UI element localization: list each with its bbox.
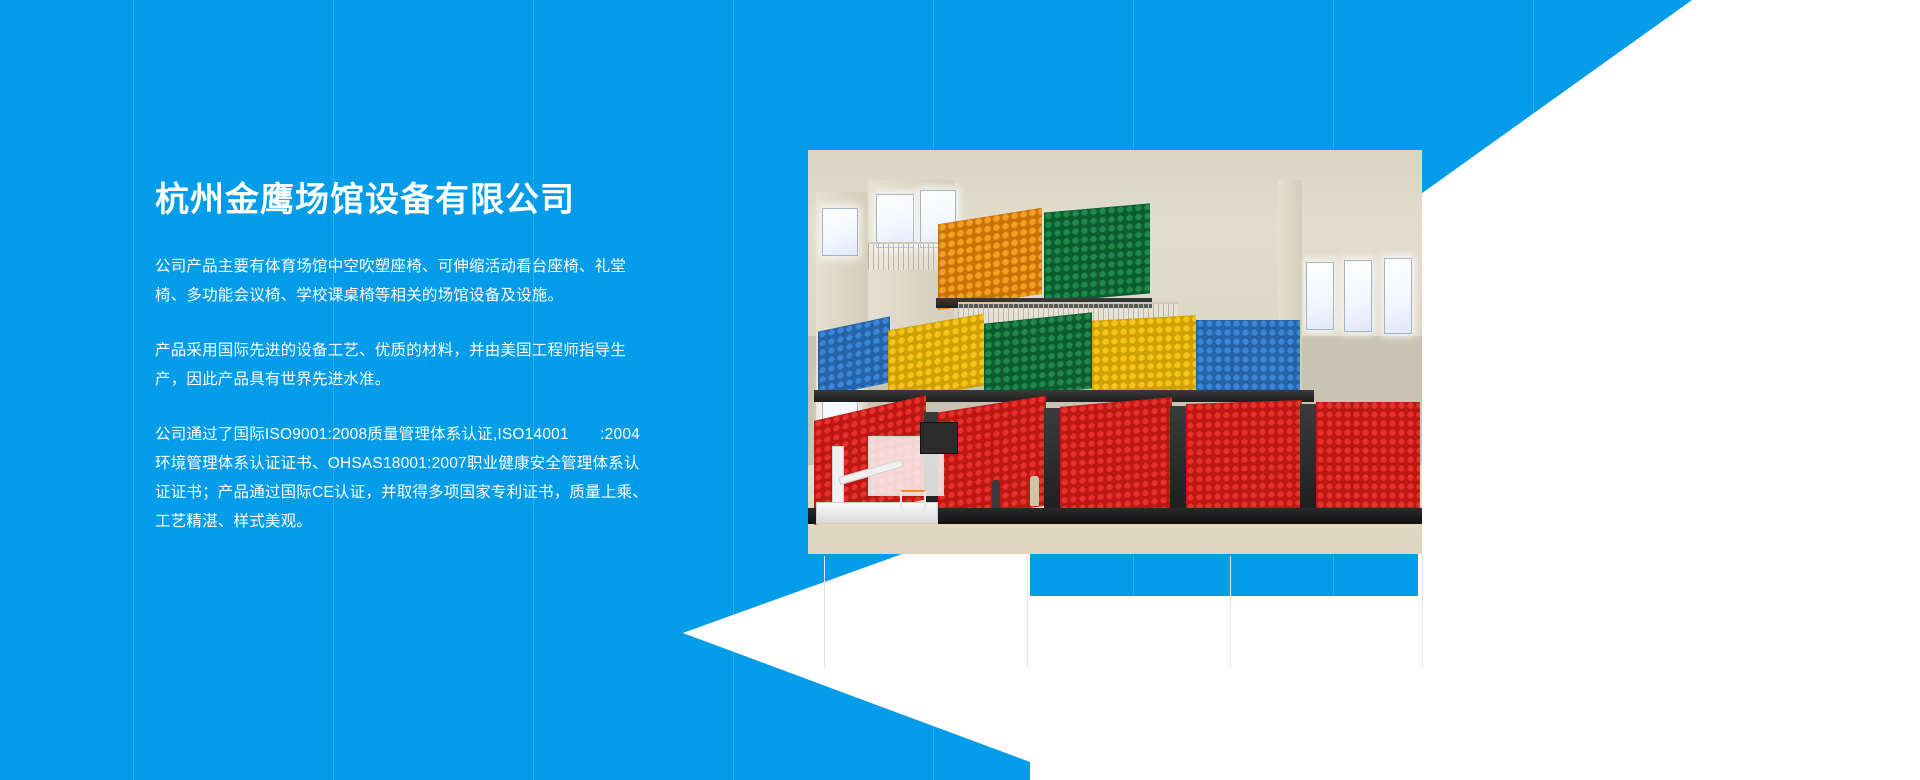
gymnasium-photo (808, 150, 1422, 554)
seat-block-red-lower-5 (1316, 402, 1420, 516)
photo-window (1306, 262, 1334, 330)
seat-block-green-upper (1044, 203, 1150, 302)
seat-block-blue-middle-right (1196, 320, 1300, 394)
page-title: 杭州金鹰场馆设备有限公司 (155, 178, 675, 222)
seat-block-blue-middle-left (818, 316, 890, 397)
person-figure (1030, 476, 1039, 506)
seat-block-red-lower-3 (1060, 397, 1172, 519)
photo-window (1384, 258, 1412, 334)
intro-paragraph-technology: 产品采用国际先进的设备工艺、优质的材料，并由美国工程师指导生产，因此产品具有世界… (155, 336, 655, 394)
photo-bleacher-frame (1170, 406, 1186, 518)
person-figure (992, 480, 1000, 508)
photo-middle-tier-base (814, 390, 1314, 402)
photo-bleacher-frame (1300, 404, 1316, 518)
photo-window (1344, 260, 1372, 332)
seat-block-red-lower-4 (1186, 400, 1302, 516)
photo-speaker-box (920, 422, 958, 454)
intro-paragraph-certifications: 公司通过了国际ISO9001:2008质量管理体系认证,ISO14001 :20… (155, 420, 655, 536)
seat-block-yellow-middle-right (1092, 315, 1196, 396)
basketball-rim (900, 490, 926, 516)
intro-text-column: 杭州金鹰场馆设备有限公司 公司产品主要有体育场馆中空吹塑座椅、可伸缩活动看台座椅… (155, 178, 675, 536)
photo-window (876, 194, 914, 248)
company-intro-banner: 杭州金鹰场馆设备有限公司 公司产品主要有体育场馆中空吹塑座椅、可伸缩活动看台座椅… (0, 0, 1920, 780)
seat-block-green-middle (984, 312, 1092, 399)
photo-window (822, 208, 858, 256)
seat-block-orange-upper (938, 208, 1042, 310)
gymnasium-photo-content (808, 150, 1422, 554)
photo-bleacher-frame (1044, 408, 1060, 520)
intro-paragraph-products: 公司产品主要有体育场馆中空吹塑座椅、可伸缩活动看台座椅、礼堂椅、多功能会议椅、学… (155, 252, 655, 310)
